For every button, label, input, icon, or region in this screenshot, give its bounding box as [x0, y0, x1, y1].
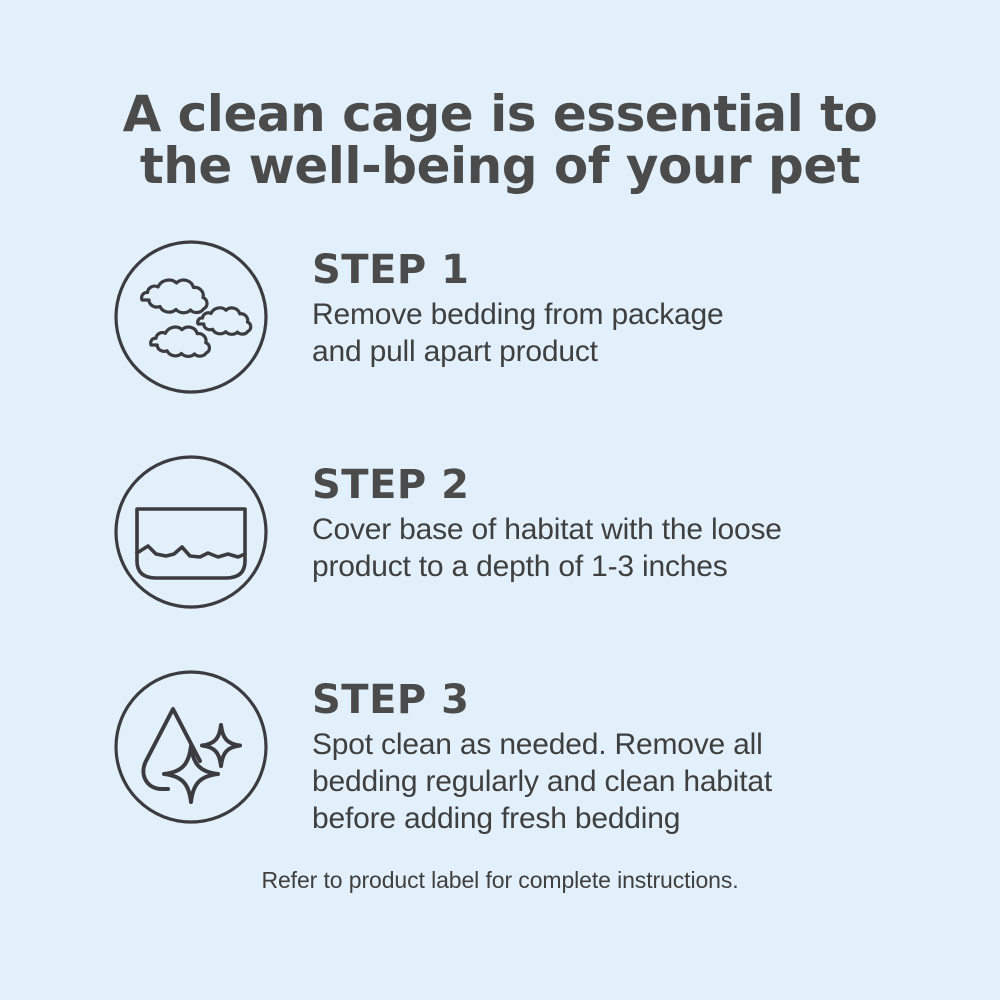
step-label: STEP 3	[312, 678, 952, 722]
instruction-poster: A clean cage is essential to the well-be…	[0, 0, 1000, 1000]
step-item: STEP 2 Cover base of habitat with the lo…	[0, 453, 1000, 668]
bedding-clouds-icon	[112, 238, 270, 396]
step-text-block: STEP 1 Remove bedding from package and p…	[312, 248, 952, 370]
step-label: STEP 1	[312, 248, 952, 292]
footer-note: Refer to product label for complete inst…	[50, 866, 950, 894]
page-title: A clean cage is essential to the well-be…	[50, 88, 950, 192]
droplet-sparkle-icon	[112, 668, 270, 826]
habitat-base-icon	[112, 453, 270, 611]
step-item: STEP 3 Spot clean as needed. Remove all …	[0, 668, 1000, 883]
page-title-line-2: the well-being of your pet	[50, 140, 950, 192]
steps-list: STEP 1 Remove bedding from package and p…	[0, 238, 1000, 883]
step-description: Cover base of habitat with the loose pro…	[312, 511, 952, 585]
page-title-line-1: A clean cage is essential to	[50, 88, 950, 140]
step-label: STEP 2	[312, 463, 952, 507]
step-description: Remove bedding from package and pull apa…	[312, 296, 952, 370]
step-text-block: STEP 3 Spot clean as needed. Remove all …	[312, 678, 952, 837]
step-item: STEP 1 Remove bedding from package and p…	[0, 238, 1000, 453]
step-description: Spot clean as needed. Remove all bedding…	[312, 726, 952, 837]
step-text-block: STEP 2 Cover base of habitat with the lo…	[312, 463, 952, 585]
